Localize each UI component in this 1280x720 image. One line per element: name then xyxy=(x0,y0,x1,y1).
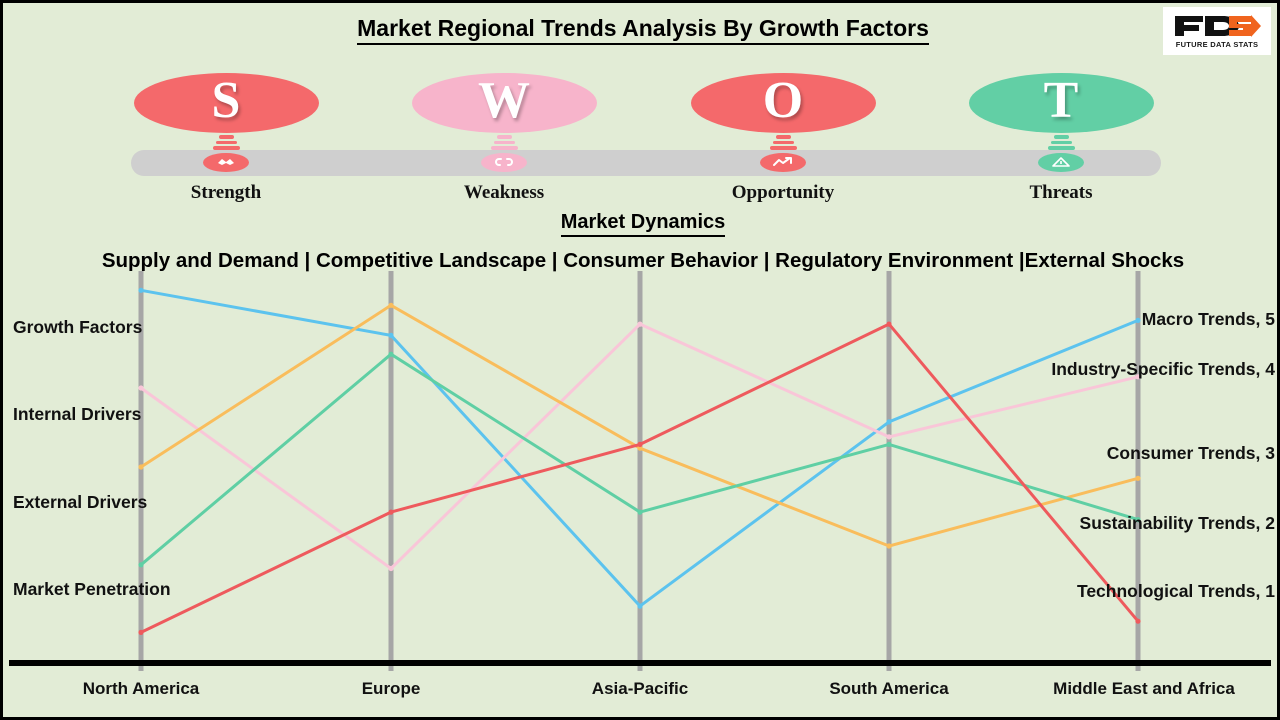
x-tick-north-america: North America xyxy=(83,679,200,699)
data-point xyxy=(637,322,642,327)
x-tick-south-america: South America xyxy=(829,679,948,699)
swot-band: S Strength W xyxy=(3,65,1280,190)
data-point xyxy=(886,419,891,424)
data-point xyxy=(886,322,891,327)
x-tick-europe: Europe xyxy=(362,679,421,699)
swot-caption-opportunity: Opportunity xyxy=(663,182,903,204)
swot-letter-weakness: W xyxy=(478,75,530,127)
market-dynamics-section: Market Dynamics Supply and Demand | Comp… xyxy=(3,211,1280,273)
growth-arrow-icon xyxy=(760,153,806,172)
data-point xyxy=(138,288,143,293)
left-label-internal-drivers: Internal Drivers xyxy=(13,404,141,425)
swot-caption-weakness: Weakness xyxy=(384,182,624,204)
swot-caption-threats: Threats xyxy=(941,182,1181,204)
swot-stack-weakness xyxy=(484,135,524,150)
data-point xyxy=(886,543,891,548)
data-point xyxy=(886,434,891,439)
axis-spine-2 xyxy=(638,271,643,671)
swot-ellipse-strength: S xyxy=(134,73,319,133)
data-point xyxy=(388,566,393,571)
broken-link-icon xyxy=(481,153,527,172)
swot-stack-threats xyxy=(1041,135,1081,150)
data-point xyxy=(138,562,143,567)
left-label-market-penetration: Market Penetration xyxy=(13,579,171,600)
market-dynamics-subheading: Supply and Demand | Competitive Landscap… xyxy=(3,249,1280,273)
swot-ellipse-weakness: W xyxy=(412,73,597,133)
data-point xyxy=(138,464,143,469)
left-label-growth-factors: Growth Factors xyxy=(13,317,142,338)
parallel-coordinates-chart: Growth Factors Internal Drivers External… xyxy=(3,271,1280,720)
series-label-consumer-trends: Consumer Trends, 3 xyxy=(975,443,1275,464)
market-dynamics-heading: Market Dynamics xyxy=(561,211,726,237)
data-point xyxy=(388,510,393,515)
swot-stack-strength xyxy=(206,135,246,150)
data-point xyxy=(388,333,393,338)
axis-spine-1 xyxy=(389,271,394,671)
x-axis-tick-labels: North America Europe Asia-Pacific South … xyxy=(3,669,1280,709)
swot-letter-strength: S xyxy=(212,75,241,127)
swot-letter-threats: T xyxy=(1044,75,1079,127)
page-title: Market Regional Trends Analysis By Growt… xyxy=(3,15,1280,42)
x-axis-rule xyxy=(9,660,1271,666)
data-point xyxy=(1135,619,1140,624)
chart-plot-area xyxy=(3,271,1280,671)
swot-item-threats[interactable]: T Threats xyxy=(941,65,1181,204)
swot-item-strength[interactable]: S Strength xyxy=(106,65,346,204)
left-label-external-drivers: External Drivers xyxy=(13,492,147,513)
infographic-page: FUTURE DATA STATS Market Regional Trends… xyxy=(0,0,1280,720)
axis-spine-3 xyxy=(887,271,892,671)
warning-triangle-icon xyxy=(1038,153,1084,172)
series-label-sustainability-trends: Sustainability Trends, 2 xyxy=(945,513,1275,534)
swot-letter-opportunity: O xyxy=(763,75,803,127)
swot-item-opportunity[interactable]: O Opportunity xyxy=(663,65,903,204)
data-point xyxy=(886,442,891,447)
x-tick-middle-east-and-africa: Middle East and Africa xyxy=(1053,679,1235,699)
data-point xyxy=(388,352,393,357)
page-title-text: Market Regional Trends Analysis By Growt… xyxy=(357,15,929,45)
data-point xyxy=(637,442,642,447)
swot-ellipse-threats: T xyxy=(969,73,1154,133)
swot-caption-strength: Strength xyxy=(106,182,346,204)
data-point xyxy=(637,604,642,609)
data-point xyxy=(1135,476,1140,481)
data-point xyxy=(138,385,143,390)
handshake-icon xyxy=(203,153,249,172)
swot-ellipse-opportunity: O xyxy=(691,73,876,133)
data-point xyxy=(138,630,143,635)
x-tick-asia-pacific: Asia-Pacific xyxy=(592,679,688,699)
swot-item-weakness[interactable]: W Weakness xyxy=(384,65,624,204)
series-label-macro-trends: Macro Trends, 5 xyxy=(975,309,1275,330)
swot-stack-opportunity xyxy=(763,135,803,150)
series-label-industry-specific-trends: Industry-Specific Trends, 4 xyxy=(1005,359,1275,380)
axis-spine-4 xyxy=(1136,271,1141,671)
data-point xyxy=(388,303,393,308)
data-point xyxy=(637,510,642,515)
series-label-technological-trends: Technological Trends, 1 xyxy=(935,581,1275,602)
